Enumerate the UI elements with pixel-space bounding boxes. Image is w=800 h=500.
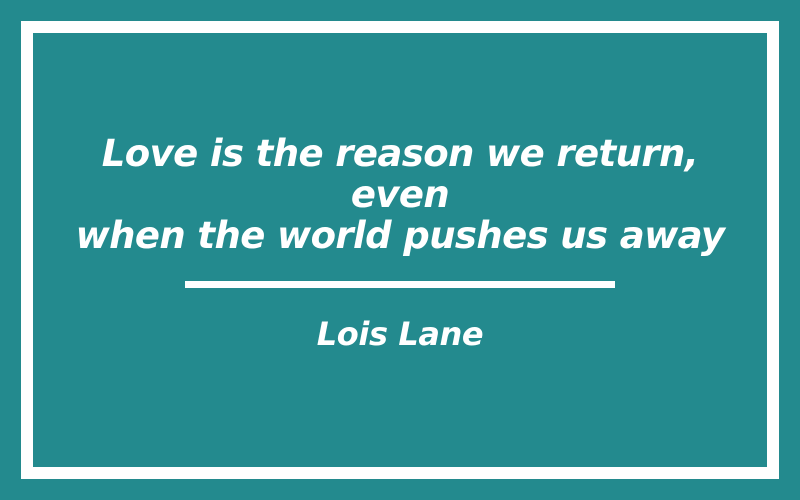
author-name: Lois Lane <box>33 315 767 353</box>
quote-text: Love is the reason we return, even when … <box>33 133 767 256</box>
card-inner-panel: Love is the reason we return, even when … <box>33 33 767 467</box>
quote-card: Love is the reason we return, even when … <box>0 0 800 500</box>
divider-rule <box>185 281 615 288</box>
quote-block: Love is the reason we return, even when … <box>33 133 767 353</box>
card-white-frame: Love is the reason we return, even when … <box>21 21 779 479</box>
